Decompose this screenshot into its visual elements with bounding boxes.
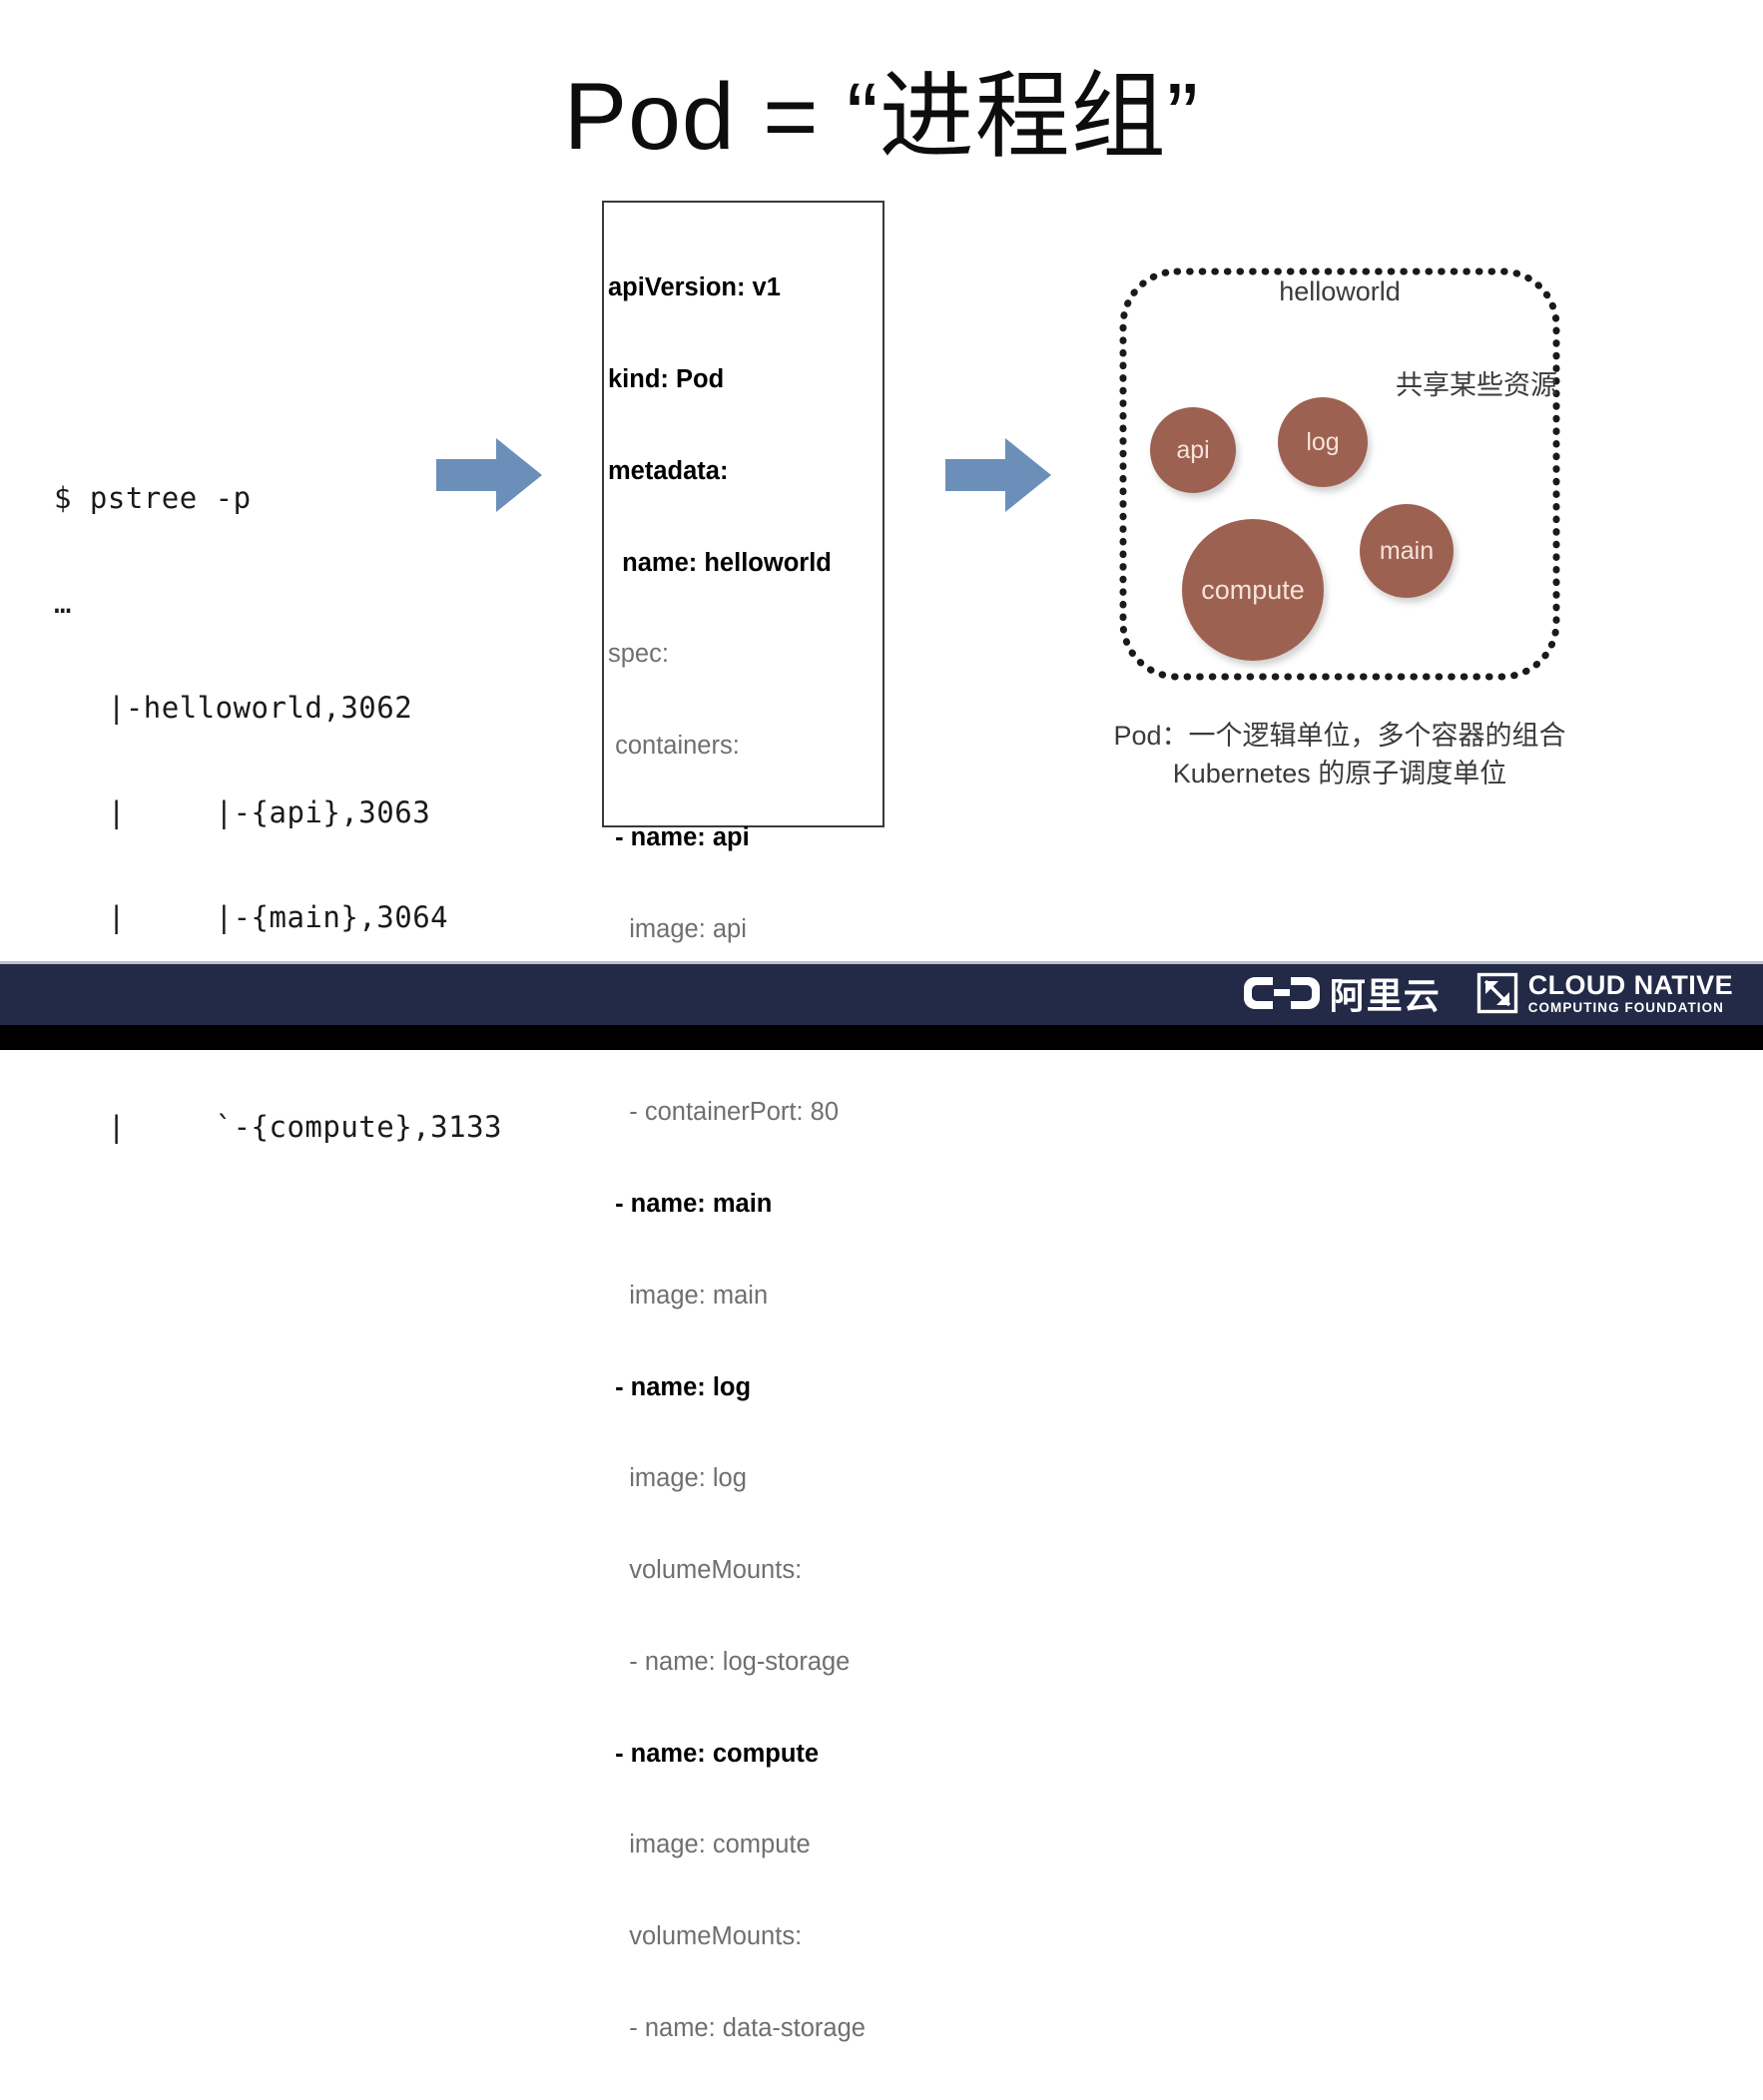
pstree-line: $ pstree -p [54,481,502,516]
arrow-right-icon [945,436,1053,514]
aliyun-wordmark: 阿里云 [1330,967,1441,1019]
yaml-line: - name: main [608,1189,882,1220]
yaml-line: image: compute [608,1830,882,1860]
container-circle-log: log [1278,397,1368,487]
yaml-line: image: api [608,914,882,945]
pstree-line: | |-{api},3063 [54,795,502,830]
yaml-line: volumeMounts: [608,1555,882,1586]
yaml-line: metadata: [608,456,882,487]
yaml-line: - name: log-storage [608,1647,882,1678]
footer-logos: 阿里云 CLOUD NATIVE COMPUTING FOUNDATION [1243,964,1733,1022]
pstree-output: $ pstree -p … |-helloworld,3062 | |-{api… [54,411,502,1180]
pod-name-label: helloworld [1116,276,1563,307]
arrow-right-icon [436,436,544,514]
container-circle-api: api [1150,407,1236,493]
pstree-line: … [54,586,502,621]
yaml-line: image: main [608,1281,882,1312]
pod-yaml-box: apiVersion: v1 kind: Pod metadata: name:… [602,201,884,827]
yaml-line: apiVersion: v1 [608,272,882,303]
pod-caption-line-2: Kubernetes 的原子调度单位 [1086,755,1593,792]
pstree-line: |-helloworld,3062 [54,691,502,726]
yaml-line: - name: compute [608,1739,882,1770]
pstree-line: | `-{compute},3133 [54,1110,502,1145]
container-circle-compute: compute [1182,519,1324,661]
cncf-line-1: CLOUD NATIVE [1528,972,1733,999]
container-circle-main: main [1360,504,1454,598]
aliyun-logo: 阿里云 [1243,967,1441,1019]
yaml-line: kind: Pod [608,364,882,395]
yaml-line: - containerPort: 80 [608,1097,882,1128]
yaml-line: - name: log [608,1372,882,1403]
footer-black-strip [0,1025,1763,1050]
page-title: Pod = “进程组” [0,68,1763,168]
shared-resources-label: 共享某些资源 [1396,363,1557,402]
cncf-mark-icon [1476,972,1518,1014]
cncf-wordmark: CLOUD NATIVE COMPUTING FOUNDATION [1528,972,1733,1015]
yaml-line: - name: api [608,822,882,853]
yaml-line: spec: [608,639,882,670]
pod-caption-line-1: Pod：一个逻辑单位，多个容器的组合 [1086,717,1593,755]
aliyun-bracket-icon [1243,971,1321,1015]
yaml-line: - name: data-storage [608,2013,882,2044]
cncf-logo: CLOUD NATIVE COMPUTING FOUNDATION [1476,972,1733,1015]
pod-caption: Pod：一个逻辑单位，多个容器的组合 Kubernetes 的原子调度单位 [1086,717,1593,792]
yaml-line: image: log [608,1463,882,1494]
yaml-line: name: helloworld [608,548,882,579]
yaml-line: volumeMounts: [608,1921,882,1952]
yaml-line: containers: [608,731,882,762]
cncf-line-2: COMPUTING FOUNDATION [1528,1001,1733,1015]
pod-yaml-text: apiVersion: v1 kind: Pod metadata: name:… [608,212,882,2100]
pstree-line: | |-{main},3064 [54,900,502,935]
